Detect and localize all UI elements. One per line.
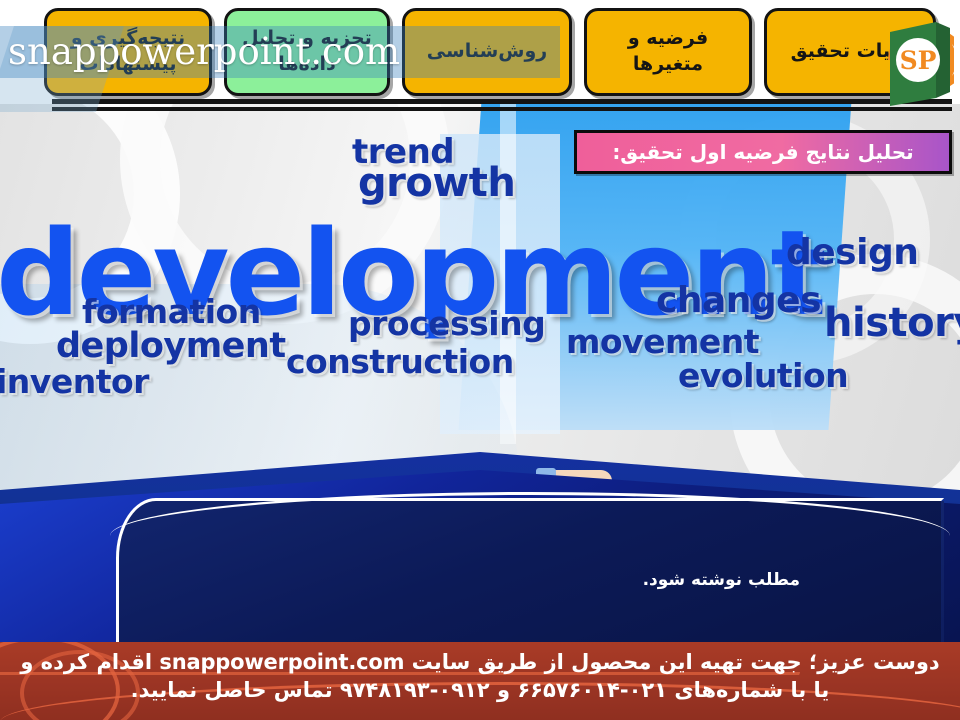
- footer-contact-banner: دوست عزیز؛ جهت تهیه این محصول از طریق سا…: [0, 642, 960, 720]
- footer-line1-prefix: دوست عزیز؛ جهت تهیه این محصول از طریق سا…: [412, 650, 940, 674]
- wordcloud-word: history: [824, 300, 960, 346]
- section-tab-bar: نتیجه‌گیری و پیشنهادات تجزیه و تحلیل داد…: [0, 0, 960, 104]
- wordcloud-word: design: [786, 232, 918, 273]
- wordcloud-word: growth: [358, 160, 515, 206]
- wordcloud-word: evolution: [678, 356, 848, 395]
- footer-site-url: snappowerpoint.com: [159, 650, 404, 674]
- slide-body-text: مطلب نوشته شود.: [643, 570, 800, 590]
- tab-data-analysis[interactable]: تجزیه و تحلیل داده‌ها: [224, 8, 390, 96]
- footer-line1-suffix: اقدام کرده و: [20, 650, 152, 674]
- tabbar-divider-secondary: [52, 107, 952, 111]
- slide-canvas: trend growth development design changes …: [0, 0, 960, 720]
- slide-title-banner: تحلیل نتایج فرضیه اول تحقیق:: [574, 130, 952, 174]
- footer-phone-2: ۰۹۱۲-۹۷۴۸۱۹۳: [340, 678, 490, 702]
- wordcloud-word: processing: [348, 304, 545, 343]
- logo-text: SP: [900, 46, 937, 75]
- tab-label: فرضیه و متغیرها: [593, 26, 743, 77]
- wordcloud-word: inventor: [0, 362, 149, 401]
- wordcloud-word: deployment: [56, 326, 286, 366]
- tab-label: تجزیه و تحلیل داده‌ها: [233, 26, 381, 77]
- wordcloud-word: changes: [656, 280, 821, 321]
- content-panel: [116, 498, 944, 650]
- snappowerpoint-logo: SP: [850, 12, 954, 108]
- footer-line2-prefix: یا با شماره‌های: [674, 678, 829, 702]
- tab-conclusion-recommendations[interactable]: نتیجه‌گیری و پیشنهادات: [44, 8, 212, 96]
- tab-methodology[interactable]: روش‌شناسی: [402, 8, 572, 96]
- footer-line2-suffix: تماس حاصل نمایید.: [131, 678, 333, 702]
- tab-hypothesis-variables[interactable]: فرضیه و متغیرها: [584, 8, 752, 96]
- tab-label: روش‌شناسی: [427, 39, 547, 65]
- footer-conjunction: و: [497, 678, 510, 702]
- tab-label: نتیجه‌گیری و پیشنهادات: [53, 26, 203, 77]
- footer-phone-1: ۰۲۱-۶۶۵۷۶۰۱۴: [517, 678, 667, 702]
- wordcloud-word: construction: [286, 342, 514, 381]
- footer-line-1: دوست عزیز؛ جهت تهیه این محصول از طریق سا…: [0, 650, 960, 674]
- footer-line-2: یا با شماره‌های ۰۲۱-۶۶۵۷۶۰۱۴ و ۰۹۱۲-۹۷۴۸…: [0, 678, 960, 702]
- tabbar-divider: [52, 99, 952, 104]
